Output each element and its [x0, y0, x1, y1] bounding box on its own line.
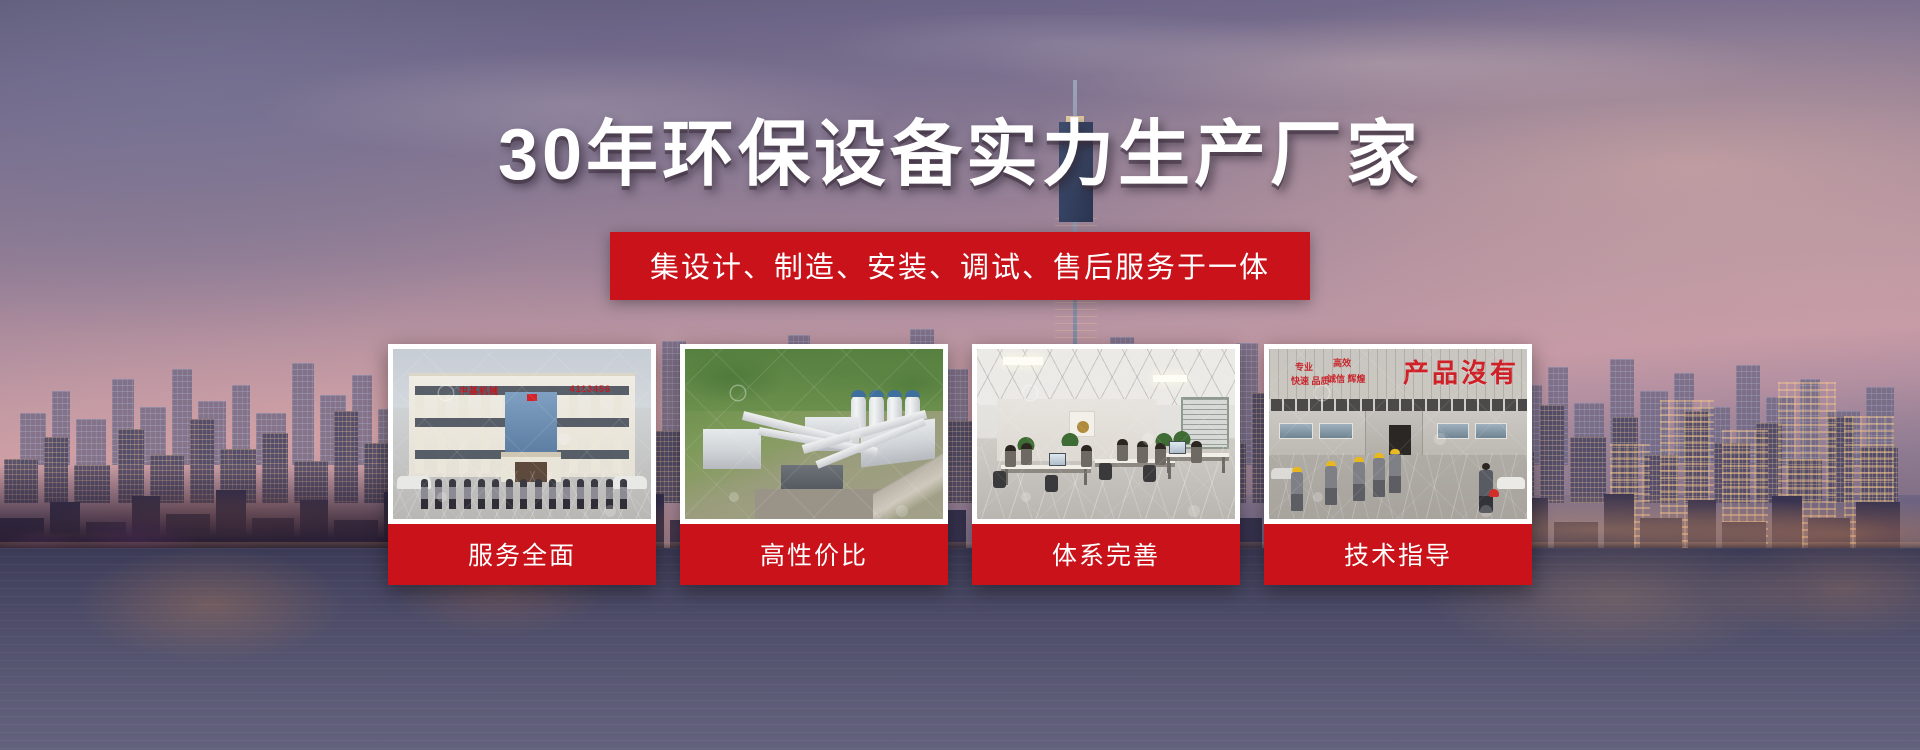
feature-card[interactable]: 体系完善	[972, 344, 1240, 585]
office-staff	[1005, 445, 1016, 467]
worker	[1325, 461, 1337, 505]
factory-sign-small-3: 高效	[1333, 359, 1351, 368]
hq-flag	[527, 394, 537, 401]
staff-lineup	[421, 475, 627, 509]
office-chair	[1143, 465, 1156, 482]
hero-banner: 30年环保设备实力生产厂家 集设计、制造、安装、调试、售后服务于一体 中基机械 …	[0, 0, 1920, 750]
worker	[1389, 449, 1401, 493]
office-chair	[1099, 463, 1112, 480]
monitor	[1169, 441, 1186, 454]
factory-window	[1319, 423, 1353, 439]
feature-card[interactable]: 产品沒有 专业 快速 品质 高效 诚信 辉煌	[1264, 344, 1532, 585]
card-photo-headquarters: 中基机械 4113456	[393, 349, 651, 519]
factory-window	[1475, 423, 1507, 439]
factory-window	[1437, 423, 1469, 439]
hq-building: 中基机械 4113456	[409, 373, 635, 477]
factory-window	[1279, 423, 1313, 439]
subtitle-ribbon-wrapper: 集设计、制造、安装、调试、售后服务于一体	[0, 232, 1920, 300]
supervisor	[1479, 463, 1493, 513]
office-staff	[1137, 441, 1148, 463]
office-staff	[1191, 441, 1202, 463]
red-helmet	[1489, 489, 1499, 497]
card-photo-factory-workers: 产品沒有 专业 快速 品质 高效 诚信 辉煌	[1269, 349, 1527, 519]
page-title: 30年环保设备实力生产厂家	[0, 118, 1920, 194]
factory-sign-small-1: 专业	[1295, 363, 1313, 372]
plant-access-road	[873, 449, 943, 519]
factory-sign-small-4: 诚信 辉煌	[1327, 375, 1366, 384]
hq-company-sign: 中基机械	[459, 384, 499, 397]
worker	[1291, 467, 1303, 511]
card-photo-office	[977, 349, 1235, 519]
factory-sign-small-2: 快速 品质	[1291, 377, 1330, 386]
office-chair	[1045, 475, 1058, 492]
card-caption: 技术指导	[1264, 524, 1532, 585]
monitor	[1049, 453, 1066, 466]
office-staff	[1081, 445, 1092, 467]
ceiling-light-panel	[1003, 357, 1043, 365]
card-caption: 高性价比	[680, 524, 948, 585]
worker	[1353, 457, 1365, 501]
hq-phone-number: 4113456	[569, 384, 611, 394]
subtitle-ribbon: 集设计、制造、安装、调试、售后服务于一体	[610, 232, 1310, 300]
feature-card[interactable]: 高性价比	[680, 344, 948, 585]
plant-yard	[755, 489, 885, 519]
potted-plant	[1061, 431, 1079, 446]
ceiling-light-panel	[1153, 375, 1187, 382]
feature-card-row: 中基机械 4113456 服务全面	[0, 344, 1920, 585]
worker	[1373, 453, 1385, 497]
card-caption: 体系完善	[972, 524, 1240, 585]
card-caption: 服务全面	[388, 524, 656, 585]
factory-sign-main: 产品沒有	[1403, 353, 1519, 390]
parked-car-right	[1497, 477, 1525, 489]
office-chair	[993, 471, 1006, 488]
office-staff	[1117, 439, 1128, 461]
feature-card[interactable]: 中基机械 4113456 服务全面	[388, 344, 656, 585]
office-staff	[1155, 443, 1166, 465]
plant-shed	[703, 429, 761, 469]
factory-window-band	[1269, 399, 1527, 411]
card-photo-plant-aerial	[685, 349, 943, 519]
office-staff	[1021, 443, 1032, 465]
